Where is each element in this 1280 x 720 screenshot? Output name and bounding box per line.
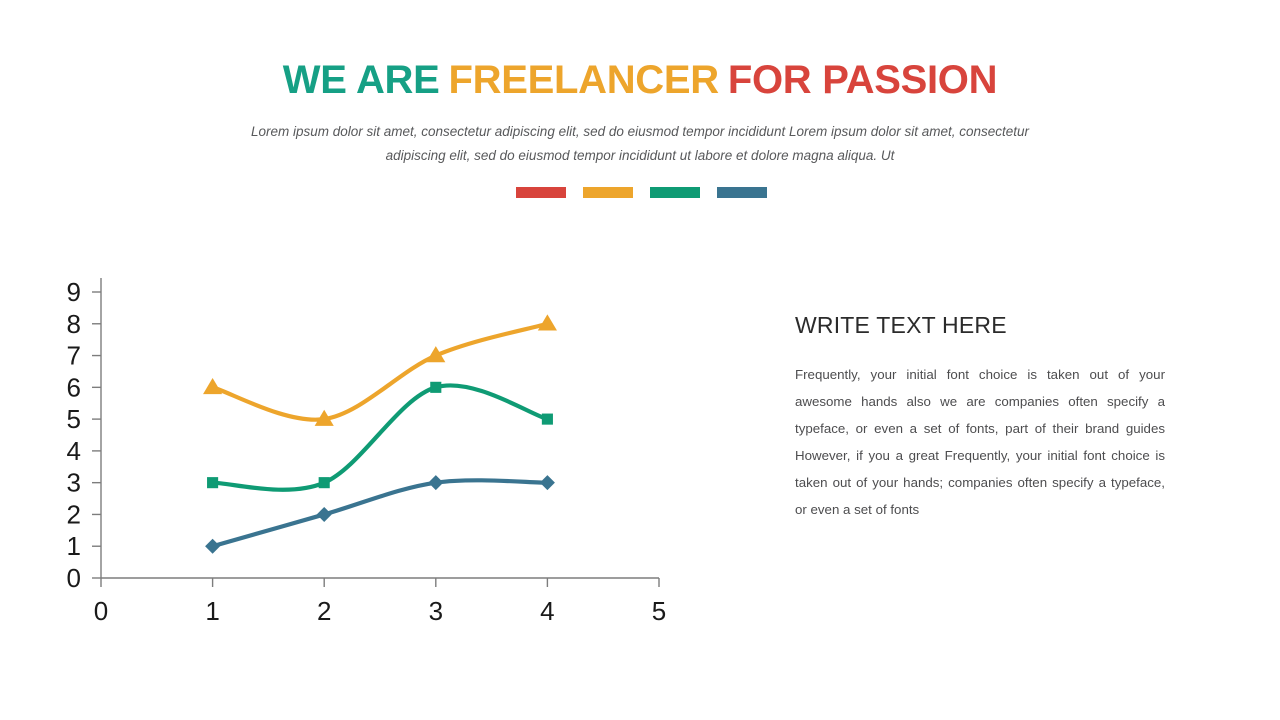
bar-teal — [650, 187, 700, 198]
data-point-3-4 — [540, 475, 555, 490]
y-axis-tick-label: 8 — [67, 309, 81, 339]
panel-heading: WRITE TEXT HERE — [795, 312, 1165, 339]
data-point-3-3 — [428, 475, 443, 490]
accent-bar-strip — [516, 187, 766, 198]
data-point-1-1 — [203, 378, 222, 394]
title-segment-2: FREELANCER — [449, 58, 719, 102]
series-1 — [203, 314, 557, 425]
x-axis-tick-label: 4 — [540, 596, 554, 626]
data-point-2-3 — [430, 382, 441, 393]
text-panel: WRITE TEXT HERE Frequently, your initial… — [795, 312, 1165, 523]
y-axis-tick-label: 0 — [67, 563, 81, 593]
series-2 — [207, 382, 553, 490]
y-axis-tick-label: 6 — [67, 372, 81, 402]
y-axis-tick-label: 2 — [67, 499, 81, 529]
page-title: WE AREFREELANCERFOR PASSION — [0, 58, 1280, 103]
x-axis-tick-label: 3 — [429, 596, 443, 626]
series-line-1 — [213, 324, 548, 420]
title-segment-1: WE ARE — [283, 58, 440, 102]
data-point-2-1 — [207, 477, 218, 488]
y-axis-tick-label: 3 — [67, 468, 81, 498]
bar-blue — [717, 187, 767, 198]
y-axis-tick-label: 9 — [67, 277, 81, 307]
x-axis-tick-label: 1 — [205, 596, 219, 626]
data-point-3-1 — [205, 539, 220, 554]
subtitle-text: Lorem ipsum dolor sit amet, consectetur … — [240, 120, 1040, 168]
slide-canvas: WE AREFREELANCERFOR PASSION Lorem ipsum … — [0, 0, 1280, 720]
data-point-1-4 — [538, 314, 557, 330]
panel-body-text: Frequently, your initial font choice is … — [795, 361, 1165, 523]
y-axis-tick-label: 4 — [67, 436, 81, 466]
series-line-2 — [213, 385, 548, 489]
line-chart: 0123456789012345 — [40, 270, 700, 630]
title-segment-3: FOR PASSION — [728, 58, 997, 102]
bar-orange — [583, 187, 633, 198]
chart-svg: 0123456789012345 — [40, 270, 700, 630]
data-point-2-2 — [319, 477, 330, 488]
x-axis-tick-label: 5 — [652, 596, 666, 626]
x-axis-tick-label: 2 — [317, 596, 331, 626]
y-axis-tick-label: 1 — [67, 531, 81, 561]
y-axis-tick-label: 7 — [67, 341, 81, 371]
data-point-2-4 — [542, 414, 553, 425]
x-axis-tick-label: 0 — [94, 596, 108, 626]
data-point-3-2 — [317, 507, 332, 522]
bar-red — [516, 187, 566, 198]
y-axis-tick-label: 5 — [67, 404, 81, 434]
